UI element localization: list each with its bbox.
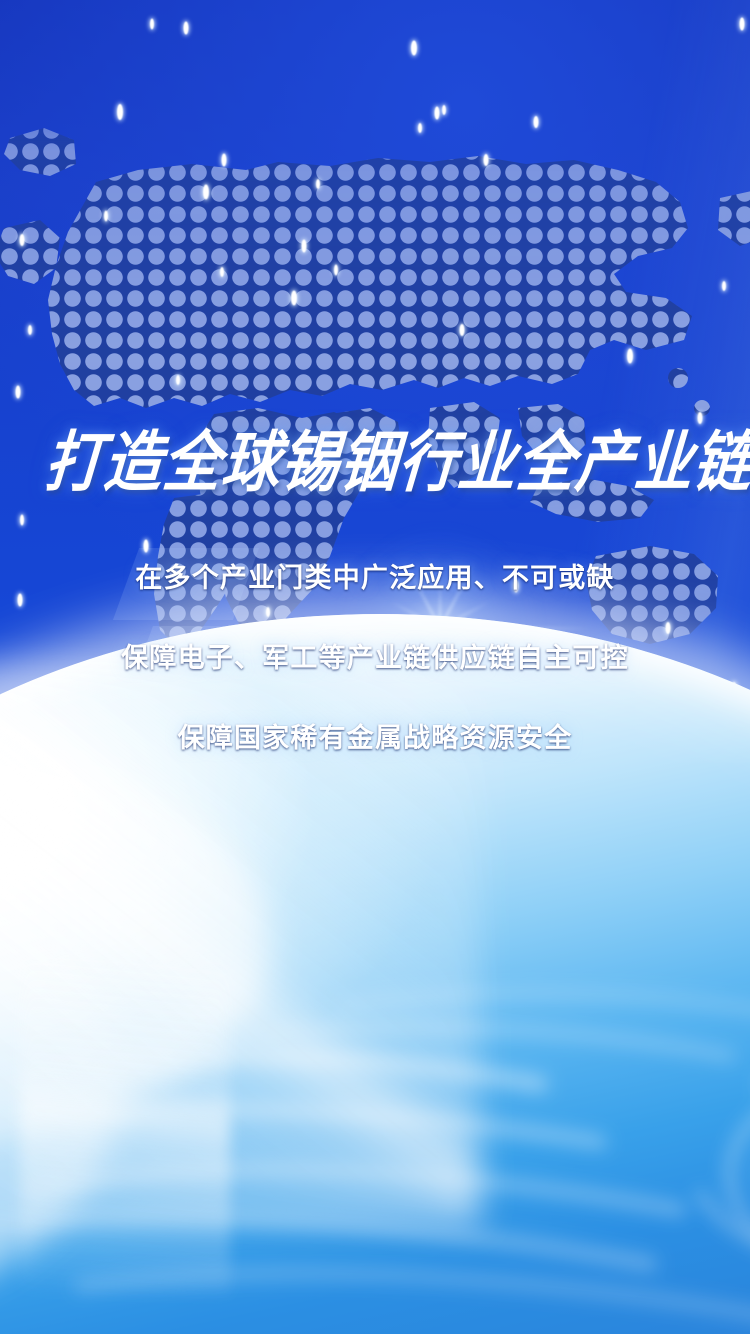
subtitle-line-1: 在多个产业门类中广泛应用、不可或缺 <box>0 565 750 592</box>
page-title: 打造全球锡铟行业全产业链链主 <box>41 414 708 510</box>
poster-canvas: 打造全球锡铟行业全产业链链主 在多个产业门类中广泛应用、不可或缺 保障电子、军工… <box>0 0 750 1334</box>
subtitle-line-3: 保障国家稀有金属战略资源安全 <box>0 725 750 752</box>
poster-content: 打造全球锡铟行业全产业链链主 在多个产业门类中广泛应用、不可或缺 保障电子、军工… <box>0 0 750 1334</box>
subtitle-line-2: 保障电子、军工等产业链供应链自主可控 <box>0 645 750 672</box>
